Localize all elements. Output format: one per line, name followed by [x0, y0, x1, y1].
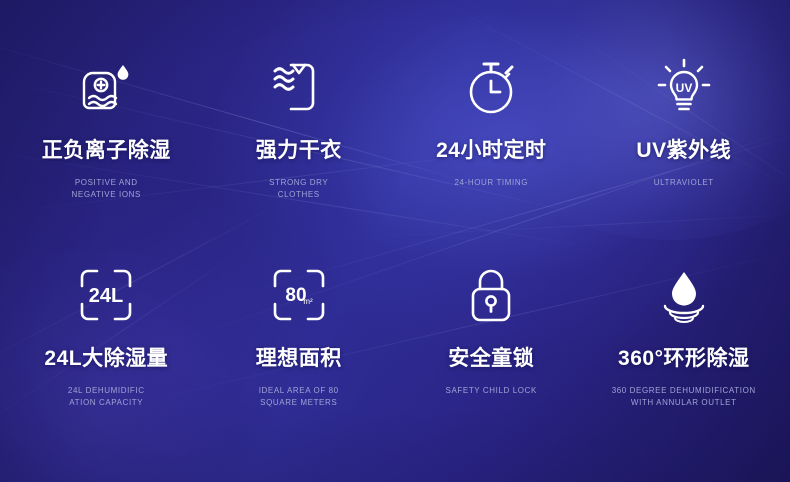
feature-title: 理想面积 [256, 342, 342, 372]
feature-item-uv[interactable]: UV UV紫外线 ULTRAVIOLET [588, 24, 781, 240]
feature-item-child-lock[interactable]: 安全童锁 SAFETY CHILD LOCK [395, 240, 588, 456]
feature-title: 24小时定时 [436, 134, 546, 164]
svg-text:m²: m² [303, 297, 313, 306]
feature-title: 正负离子除湿 [42, 134, 171, 164]
feature-grid-banner: 正负离子除湿 POSITIVE AND NEGATIVE IONS 强力干衣 S… [0, 0, 790, 482]
ionizer-dehumidify-icon [75, 54, 137, 120]
360-annular-outlet-icon [655, 262, 713, 328]
capacity-24l-icon: 24L [77, 262, 135, 328]
feature-subtitle: STRONG DRY CLOTHES [269, 177, 328, 200]
feature-item-dry-clothes[interactable]: 强力干衣 STRONG DRY CLOTHES [203, 24, 396, 240]
strong-dry-clothes-icon [269, 54, 329, 120]
feature-subtitle: ULTRAVIOLET [654, 177, 714, 189]
feature-subtitle: POSITIVE AND NEGATIVE IONS [72, 177, 141, 200]
feature-item-ionizer[interactable]: 正负离子除湿 POSITIVE AND NEGATIVE IONS [10, 24, 203, 240]
timer-24-hour-icon [461, 54, 521, 120]
feature-subtitle: 24-HOUR TIMING [454, 177, 528, 189]
svg-text:24L: 24L [89, 285, 123, 307]
feature-item-annular-outlet[interactable]: 360°环形除湿 360 DEGREE DEHUMIDIFICATION WIT… [588, 240, 781, 456]
feature-item-area[interactable]: 80 m² 理想面积 IDEAL AREA OF 80 SQUARE METER… [203, 240, 396, 456]
feature-subtitle: 24L DEHUMIDIFIC ATION CAPACITY [68, 385, 145, 408]
feature-item-timer[interactable]: 24小时定时 24-HOUR TIMING [395, 24, 588, 240]
feature-title: 安全童锁 [448, 342, 534, 372]
feature-title: UV紫外线 [636, 134, 731, 164]
feature-title: 360°环形除湿 [618, 342, 749, 372]
area-80-square-meters-icon: 80 m² [270, 262, 328, 328]
feature-subtitle: SAFETY CHILD LOCK [446, 385, 537, 397]
feature-subtitle: IDEAL AREA OF 80 SQUARE METERS [259, 385, 339, 408]
features-grid: 正负离子除湿 POSITIVE AND NEGATIVE IONS 强力干衣 S… [0, 0, 790, 482]
feature-subtitle: 360 DEGREE DEHUMIDIFICATION WITH ANNULAR… [612, 385, 756, 408]
uv-lamp-icon: UV [653, 54, 715, 120]
feature-item-capacity[interactable]: 24L 24L大除湿量 24L DEHUMIDIFIC ATION CAPACI… [10, 240, 203, 456]
svg-text:UV: UV [675, 81, 692, 95]
feature-title: 强力干衣 [256, 134, 342, 164]
feature-title: 24L大除湿量 [44, 342, 168, 372]
child-lock-icon [463, 262, 519, 328]
